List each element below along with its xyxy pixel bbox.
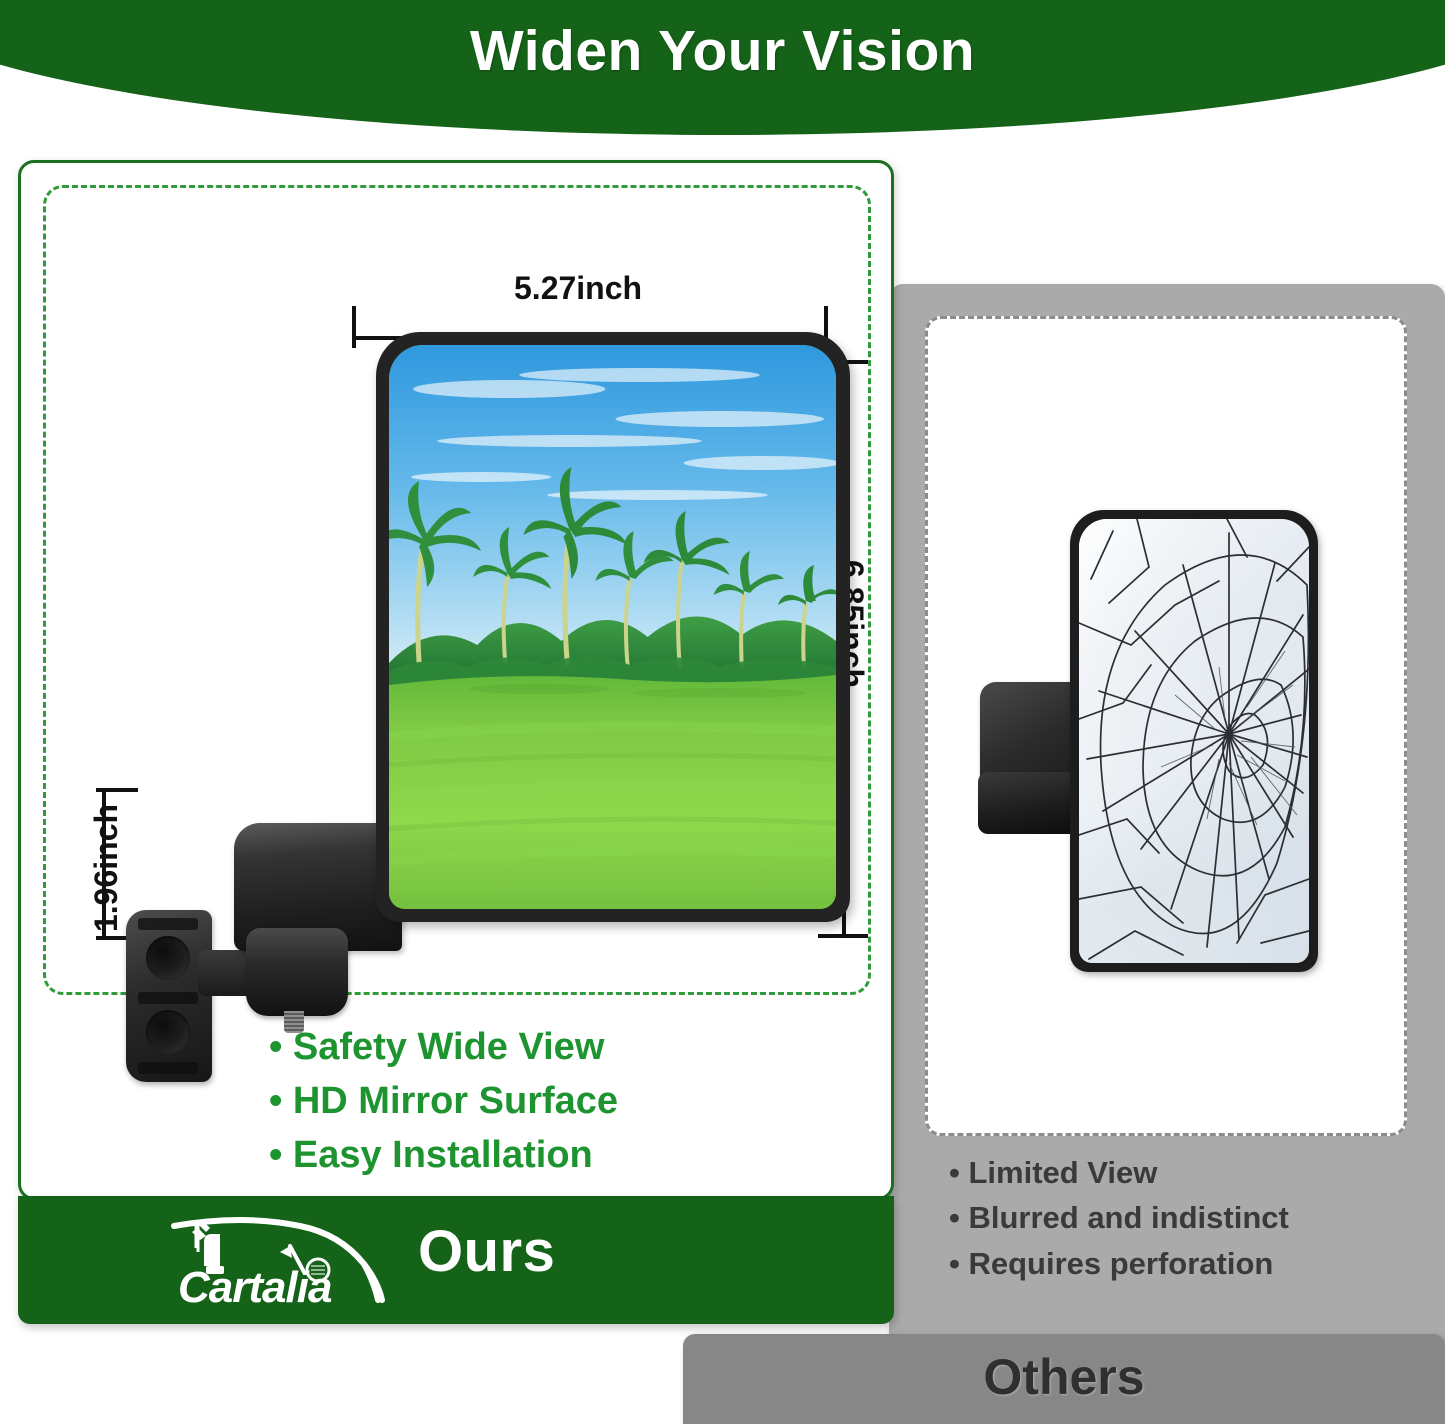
- crack-pattern-icon: [1079, 519, 1309, 963]
- ours-label: Ours: [418, 1218, 555, 1285]
- cartalia-logo: Cartalia: [168, 1208, 403, 1312]
- others-image-frame: [925, 316, 1407, 1136]
- others-bullet-2: • Requires perforation: [949, 1241, 1429, 1286]
- clamp-slot: [138, 992, 198, 1004]
- clamp-bolt-hole: [146, 936, 190, 980]
- others-footer-bar: Others: [683, 1334, 1445, 1424]
- others-bullet-list: • Limited View • Blurred and indistinct …: [949, 1150, 1429, 1286]
- ours-mirror-assembly: [86, 328, 886, 968]
- ours-bullet-0: • Safety Wide View: [269, 1021, 889, 1075]
- ours-image-frame: 5.27inch 6.85inch 1.96inch: [43, 185, 871, 995]
- broken-mirror-assembly: [978, 504, 1398, 984]
- ours-footer-bar: Cartalia Ours: [18, 1196, 894, 1324]
- clamp-bolt-hole: [146, 1010, 190, 1054]
- others-bullet-1: • Blurred and indistinct: [949, 1195, 1429, 1240]
- page-title: Widen Your Vision: [0, 18, 1445, 84]
- cracked-glass: [1079, 519, 1309, 963]
- mirror-glass-golf-scene: [389, 345, 836, 909]
- infographic-canvas: Widen Your Vision: [0, 0, 1445, 1424]
- others-panel: • Limited View • Blurred and indistinct …: [889, 284, 1445, 1354]
- golf-course-scene-icon: [389, 345, 836, 909]
- dimension-width-label: 5.27inch: [514, 270, 642, 307]
- ours-panel: 5.27inch 6.85inch 1.96inch: [18, 160, 894, 1200]
- ours-bullet-list: • Safety Wide View • HD Mirror Surface •…: [269, 1021, 889, 1183]
- clamp-slot: [138, 1062, 198, 1074]
- cartalia-logo-icon: Cartalia: [168, 1208, 403, 1312]
- others-label: Others: [683, 1348, 1445, 1406]
- clamp-slot: [138, 918, 198, 930]
- mirror-clamp-bracket: [126, 910, 212, 1082]
- ours-bullet-1: • HD Mirror Surface: [269, 1075, 889, 1129]
- others-bullet-0: • Limited View: [949, 1150, 1429, 1195]
- ours-bullet-2: • Easy Installation: [269, 1129, 889, 1183]
- broken-mirror-housing: [1070, 510, 1318, 972]
- header-banner: Widen Your Vision: [0, 0, 1445, 135]
- mirror-pivot-joint: [246, 928, 348, 1016]
- ours-mirror-housing: [376, 332, 850, 922]
- svg-text:Cartalia: Cartalia: [178, 1263, 332, 1312]
